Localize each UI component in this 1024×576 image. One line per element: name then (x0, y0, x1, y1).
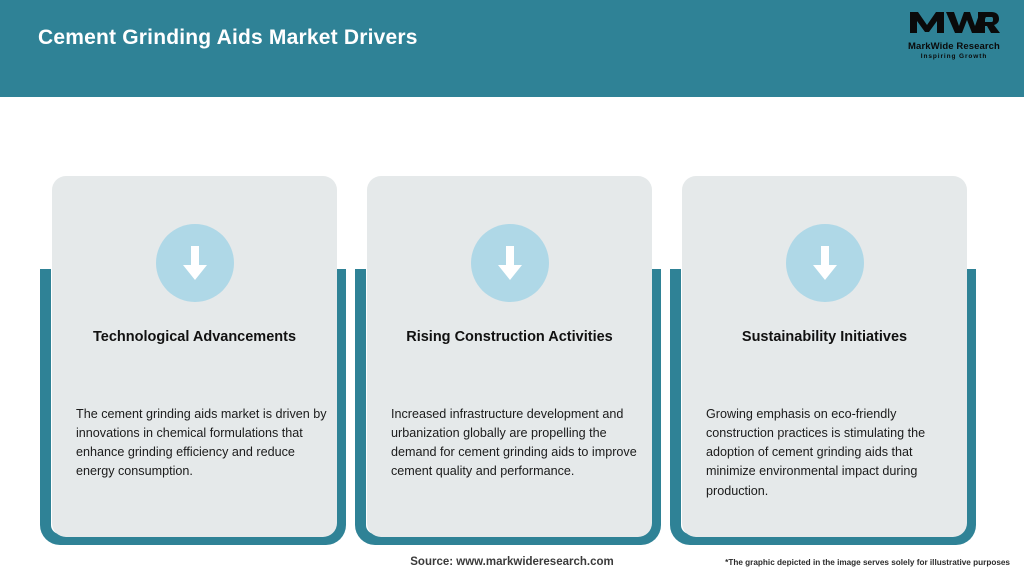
card-surface: Sustainability Initiatives Growing empha… (682, 176, 967, 537)
driver-card-2[interactable]: Rising Construction Activities Increased… (353, 97, 669, 537)
logo-tagline: Inspiring Growth (921, 53, 987, 60)
card-surface: Technological Advancements The cement gr… (52, 176, 337, 537)
card-title: Rising Construction Activities (383, 328, 636, 346)
card-body-text: Increased infrastructure development and… (391, 405, 643, 482)
markwide-research-logo: MarkWide Research Inspiring Growth (898, 9, 1010, 61)
down-arrow-icon (156, 224, 234, 302)
driver-card-3[interactable]: Sustainability Initiatives Growing empha… (668, 97, 984, 537)
page-header: Cement Grinding Aids Market Drivers Mark… (0, 0, 1024, 97)
card-surface: Rising Construction Activities Increased… (367, 176, 652, 537)
drivers-card-grid: Technological Advancements The cement gr… (0, 97, 1024, 537)
mwr-logo-icon (908, 9, 1000, 40)
card-body-text: Growing emphasis on eco-friendly constru… (706, 405, 958, 501)
page-title: Cement Grinding Aids Market Drivers (38, 26, 418, 50)
driver-card-1[interactable]: Technological Advancements The cement gr… (38, 97, 354, 537)
down-arrow-icon (786, 224, 864, 302)
card-title: Technological Advancements (68, 328, 321, 346)
down-arrow-icon (471, 224, 549, 302)
card-body-text: The cement grinding aids market is drive… (76, 405, 328, 482)
disclaimer-note: *The graphic depicted in the image serve… (725, 558, 1010, 567)
logo-company-name: MarkWide Research (908, 41, 1000, 52)
card-title: Sustainability Initiatives (698, 328, 951, 346)
